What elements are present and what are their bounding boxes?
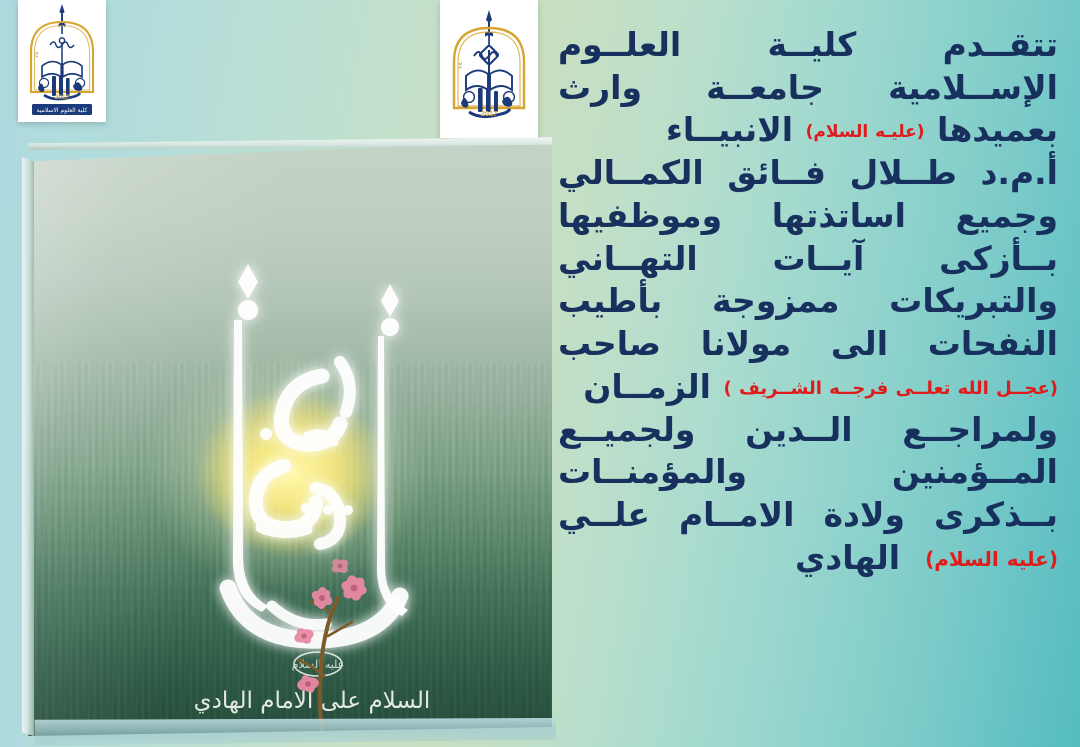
message-line-4: أ.م.د طــلال فــائق الكمــالي bbox=[558, 152, 1058, 195]
artwork-panel: عليه السلام السلام على الامام الهادي bbox=[22, 136, 552, 736]
calligraphy-caption-text: السلام على الامام الهادي bbox=[194, 688, 431, 714]
message-line-9-main: الزمــان bbox=[583, 367, 711, 406]
university-logo-college-icon: UNIVERSITY OF WARITH AL-ANBIYA bbox=[18, 0, 106, 122]
message-line-13: (عليه السلام) الهادي bbox=[558, 537, 1058, 580]
congratulation-message: تتقــدم كليــة العلــوم الإســلامية جامع… bbox=[558, 24, 1058, 580]
message-line-13-main: الهادي bbox=[795, 538, 900, 577]
honorific-final-alayhi-salam: (عليه السلام) bbox=[925, 547, 1058, 571]
message-line-10: ولمراجــع الــدين ولجميــع bbox=[558, 409, 1058, 452]
honorific-alayhi-salam: (عليـه السلام) bbox=[806, 122, 925, 142]
calligraphy-artwork: عليه السلام السلام على الامام الهادي bbox=[22, 136, 552, 736]
message-line-8: النفحات الى مولانا صاحب bbox=[558, 323, 1058, 366]
panel-left-bevel bbox=[22, 136, 34, 736]
message-line-5: وجميع اساتذتها وموظفيها bbox=[558, 195, 1058, 238]
message-line-3-main: الانبيــاء bbox=[666, 110, 793, 149]
message-line-7: والتبريكات ممزوجة بأطيب bbox=[558, 280, 1058, 323]
university-logo-college-card: UNIVERSITY OF WARITH AL-ANBIYA bbox=[18, 0, 106, 122]
congratulation-poster: UNIVERSITY OF WARITH AL-ANBIYA bbox=[0, 0, 1080, 747]
message-line-6: بــأزكى آيــات التهــاني bbox=[558, 238, 1058, 281]
imam-al-hadi-artwork: عليه السلام السلام على الامام الهادي bbox=[22, 136, 552, 736]
university-logo-main-icon: UNIVERSITY OF WARITH AL-ANBIYA bbox=[440, 0, 538, 138]
message-line-2: الإســلامية جامعــة وارث bbox=[558, 67, 1058, 110]
svg-text:2017: 2017 bbox=[481, 109, 497, 118]
panel-base-reflection bbox=[32, 718, 556, 747]
message-line-12: بــذكرى ولادة الامــام علــي bbox=[558, 494, 1058, 537]
message-line-3: بعميدها (عليـه السلام) الانبيــاء bbox=[558, 109, 1058, 152]
message-line-1: تتقــدم كليــة العلــوم bbox=[558, 24, 1058, 67]
message-line-9: (عجــل الله تعلــى فرجــه الشــريف ) الز… bbox=[558, 366, 1058, 409]
university-logo-main-card: UNIVERSITY OF WARITH AL-ANBIYA bbox=[440, 0, 538, 138]
logo-banner-text: كلية العلوم الاسلامية bbox=[37, 107, 88, 114]
honorific-ajjal-allah: (عجــل الله تعلــى فرجــه الشــريف ) bbox=[723, 378, 1058, 399]
message-line-3-suffix: بعميدها bbox=[937, 110, 1058, 149]
calligraphy-stamp-text: عليه السلام bbox=[292, 658, 345, 671]
message-line-11: المــؤمنين والمؤمنــات bbox=[558, 451, 1058, 494]
svg-text:2017: 2017 bbox=[55, 94, 70, 101]
